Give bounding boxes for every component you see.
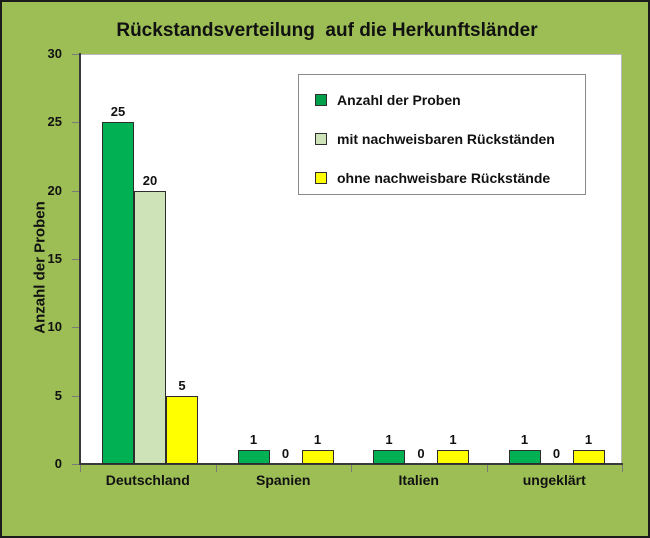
y-axis-tick bbox=[72, 396, 79, 397]
chart-title: Rückstandsverteilung auf die Herkunftslä… bbox=[2, 20, 650, 42]
bar[interactable] bbox=[134, 191, 166, 464]
y-axis-line bbox=[79, 53, 81, 465]
bar-value-label: 25 bbox=[94, 104, 142, 119]
y-axis-tick-label: 0 bbox=[22, 456, 62, 471]
legend-item-ohne-nachweisbare-rueckstaende[interactable]: ohne nachweisbare Rückstände bbox=[315, 169, 550, 187]
bar-value-label: 5 bbox=[158, 378, 206, 393]
x-axis-tick bbox=[80, 465, 81, 472]
y-axis-tick-label: 10 bbox=[22, 319, 62, 334]
bar-value-label: 1 bbox=[565, 432, 613, 447]
legend-swatch-palegreen-icon bbox=[315, 133, 327, 145]
legend-swatch-green-icon bbox=[315, 94, 327, 106]
legend-swatch-yellow-icon bbox=[315, 172, 327, 184]
y-axis-tick-label: 20 bbox=[22, 183, 62, 198]
legend-label: Anzahl der Proben bbox=[337, 92, 461, 108]
x-axis-category-label: Spanien bbox=[216, 472, 352, 488]
bar[interactable] bbox=[437, 450, 469, 464]
x-axis-category-label: Italien bbox=[351, 472, 487, 488]
y-axis-tick bbox=[72, 54, 79, 55]
bar-value-label: 1 bbox=[429, 432, 477, 447]
bar[interactable] bbox=[302, 450, 334, 464]
x-axis-tick bbox=[216, 465, 217, 472]
y-axis-tick-label: 15 bbox=[22, 251, 62, 266]
y-axis-tick-label: 30 bbox=[22, 46, 62, 61]
chart-figure: Rückstandsverteilung auf die Herkunftslä… bbox=[0, 0, 650, 538]
y-axis-tick-label: 5 bbox=[22, 388, 62, 403]
legend-label: mit nachweisbaren Rückständen bbox=[337, 131, 555, 147]
chart-legend: Anzahl der Proben mit nachweisbaren Rück… bbox=[298, 74, 586, 195]
legend-item-mit-nachweisbaren-rueckstaenden[interactable]: mit nachweisbaren Rückständen bbox=[315, 130, 555, 148]
bar[interactable] bbox=[573, 450, 605, 464]
bar-value-label: 20 bbox=[126, 173, 174, 188]
x-axis-category-label: ungeklärt bbox=[487, 472, 623, 488]
y-axis-tick bbox=[72, 191, 79, 192]
y-axis-tick bbox=[72, 327, 79, 328]
x-axis-tick bbox=[487, 465, 488, 472]
y-axis-tick bbox=[72, 259, 79, 260]
bar-value-label: 1 bbox=[294, 432, 342, 447]
legend-label: ohne nachweisbare Rückstände bbox=[337, 170, 550, 186]
x-axis-tick bbox=[351, 465, 352, 472]
x-axis-category-label: Deutschland bbox=[80, 472, 216, 488]
y-axis-tick bbox=[72, 464, 79, 465]
bar[interactable] bbox=[166, 396, 198, 464]
y-axis-tick-label: 25 bbox=[22, 114, 62, 129]
legend-item-anzahl-der-proben[interactable]: Anzahl der Proben bbox=[315, 91, 461, 109]
x-axis-tick bbox=[622, 465, 623, 472]
y-axis-tick bbox=[72, 122, 79, 123]
